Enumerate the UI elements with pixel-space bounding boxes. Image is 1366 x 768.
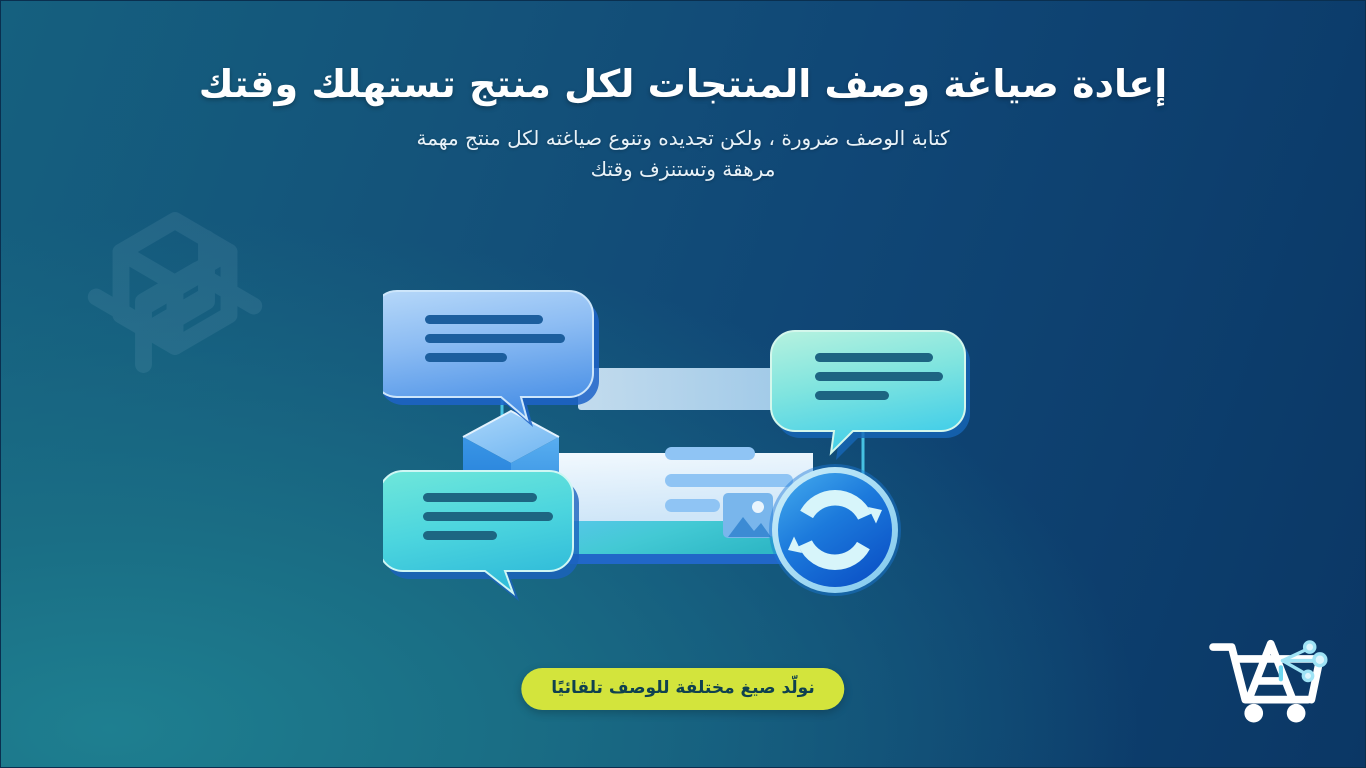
cart-wheel-right-icon [1287, 704, 1306, 723]
image-placeholder-icon [723, 493, 773, 538]
chat-bubble-top-right [771, 331, 970, 460]
subtitle-line-2: مرهقة وتستنزف وقتك [81, 154, 1285, 185]
status-badge[interactable]: نولّد صيغ مختلفة للوصف تلقائيًا [521, 668, 844, 710]
chat-bubble-bottom-left [383, 471, 579, 601]
slide-canvas: إعادة صياغة وصف المنتجات لكل منتج تستهلك… [0, 0, 1366, 768]
product-description-rewrite-illustration [383, 271, 983, 601]
refresh-sync-icon [769, 464, 901, 596]
openai-knot-watermark-icon [59, 189, 291, 414]
chat-bubble-top-left [383, 291, 599, 427]
letter-a-icon [1249, 644, 1293, 700]
ai-shopping-cart-logo [1201, 625, 1337, 731]
subtitle-line-1: كتابة الوصف ضرورة ، ولكن تجديده وتنوع صي… [81, 123, 1285, 154]
background-band [578, 368, 803, 410]
page-title: إعادة صياغة وصف المنتجات لكل منتج تستهلك… [81, 59, 1285, 109]
hero-text-block: إعادة صياغة وصف المنتجات لكل منتج تستهلك… [1, 59, 1365, 185]
page-subtitle: كتابة الوصف ضرورة ، ولكن تجديده وتنوع صي… [81, 123, 1285, 185]
cart-wheel-left-icon [1244, 704, 1263, 723]
